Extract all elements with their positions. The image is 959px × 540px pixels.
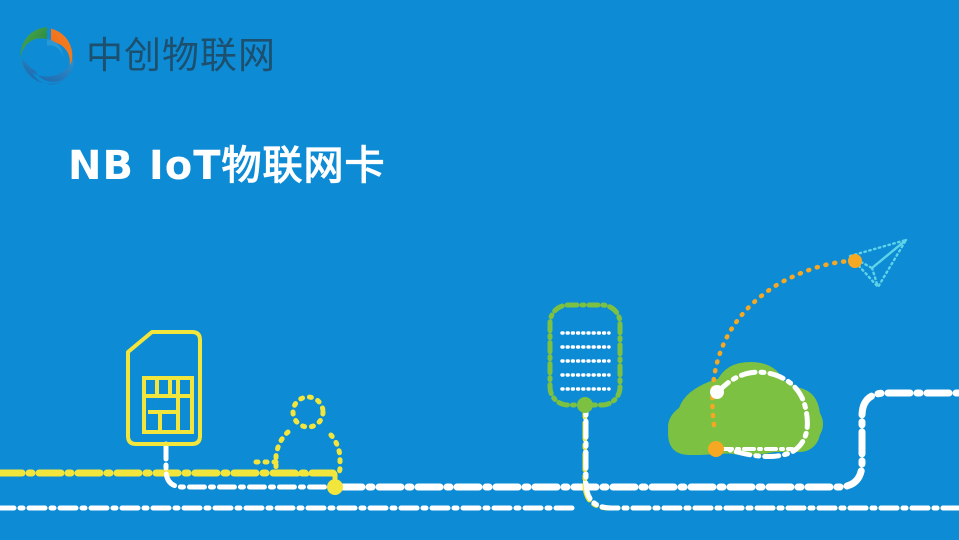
brand-name: 中创物联网 [86, 37, 276, 74]
slide-canvas: 中创物联网 NB IoT物联网卡 [0, 0, 959, 540]
sim-card-icon [128, 332, 200, 444]
swirl-logo-icon [14, 22, 80, 88]
connector-white-sim-drop [166, 444, 333, 487]
device-list-icon [550, 305, 620, 405]
connector-white-midline [340, 393, 959, 487]
person-icon [252, 397, 340, 482]
node-green-dot-device [577, 397, 593, 413]
node-white-dot [710, 385, 724, 399]
cloud-icon [668, 362, 823, 457]
node-yellow-dot [327, 479, 343, 495]
page-title: NB IoT物联网卡 [68, 144, 386, 188]
node-orange-dot-cloud [708, 441, 724, 457]
brand-logo: 中创物联网 [14, 18, 276, 92]
node-orange-dot-plane [848, 254, 862, 268]
